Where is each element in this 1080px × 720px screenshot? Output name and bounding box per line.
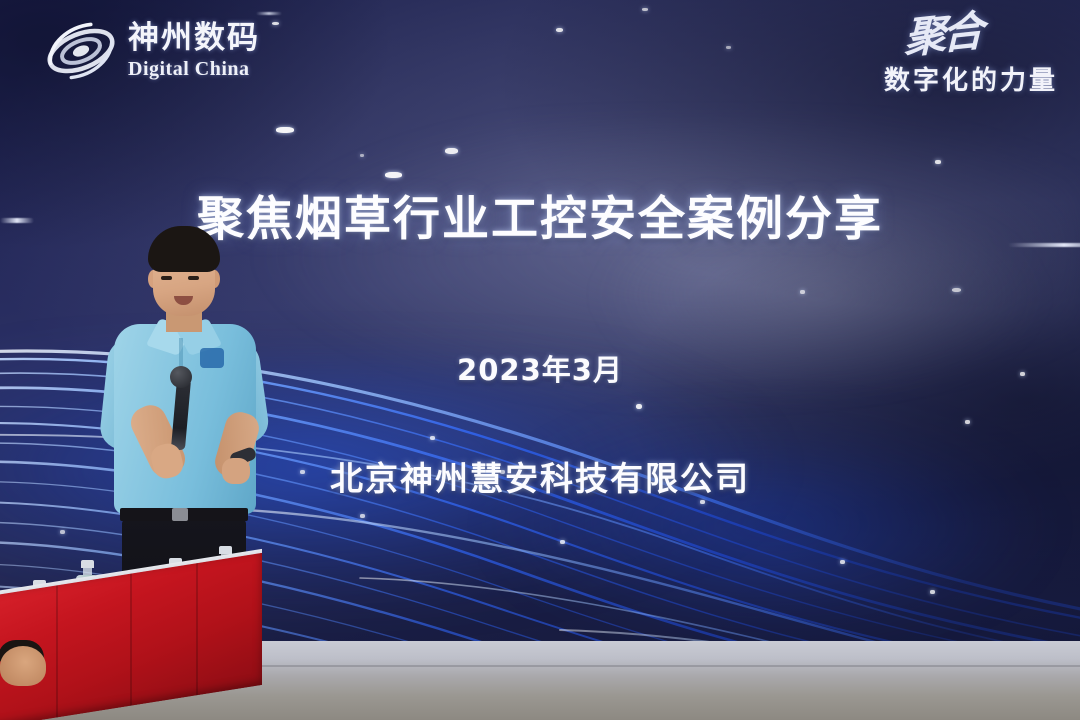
particle-dot xyxy=(556,28,563,32)
particle-dot xyxy=(430,436,435,440)
event-calligraphy: 聚合 xyxy=(904,10,980,60)
digital-china-swirl-logo-icon xyxy=(44,20,118,82)
presenter-shirt-logo-icon xyxy=(200,348,224,368)
particle-dot xyxy=(935,160,941,164)
particle-dot xyxy=(272,22,279,25)
particle-dot xyxy=(636,404,642,409)
presenter-hair xyxy=(148,226,220,272)
brand-name-en: Digital China xyxy=(128,59,260,79)
presenter-eye-right xyxy=(188,276,199,280)
presenter-right-hand xyxy=(222,458,250,484)
digital-china-wordmark: 神州数码 Digital China xyxy=(128,23,260,79)
particle-dot xyxy=(360,514,365,518)
light-streak xyxy=(256,12,282,15)
presenter-belt-buckle xyxy=(172,508,188,521)
event-logo: 聚合 数字化的力量 xyxy=(806,14,1058,97)
particle-dot xyxy=(560,540,565,544)
particle-dot xyxy=(965,420,970,424)
digital-china-brand: 神州数码 Digital China xyxy=(44,20,260,82)
particle-dot xyxy=(60,530,65,534)
particle-dot xyxy=(385,172,402,178)
drape-fold xyxy=(56,585,58,717)
drape-fold xyxy=(130,574,132,706)
particle-dot xyxy=(700,500,705,504)
event-tagline: 数字化的力量 xyxy=(806,60,1058,97)
wave-glow-secondary xyxy=(420,400,1080,648)
seated-attendee xyxy=(0,646,46,686)
microphone-head-icon xyxy=(170,366,192,388)
particle-dot xyxy=(952,288,961,292)
particle-dot xyxy=(726,46,731,49)
particle-dot xyxy=(800,290,805,294)
particle-dot xyxy=(445,148,458,154)
conference-photo: 聚焦烟草行业工控安全案例分享 2023年3月 北京神州慧安科技有限公司 神州数码 xyxy=(0,0,1080,720)
particle-dot xyxy=(930,590,935,594)
drape-fold xyxy=(196,563,198,695)
bottle-cap xyxy=(219,546,232,554)
particle-dot xyxy=(840,560,845,564)
event-calligraphy-wrap: 聚合 xyxy=(806,14,1058,56)
brand-name-cn: 神州数码 xyxy=(128,23,260,54)
presenter-eye-left xyxy=(161,276,172,280)
bottle-cap xyxy=(81,560,94,568)
particle-dot xyxy=(360,154,364,157)
particle-dot xyxy=(642,8,648,11)
bottle-neck xyxy=(83,568,92,575)
particle-dot xyxy=(276,127,294,133)
